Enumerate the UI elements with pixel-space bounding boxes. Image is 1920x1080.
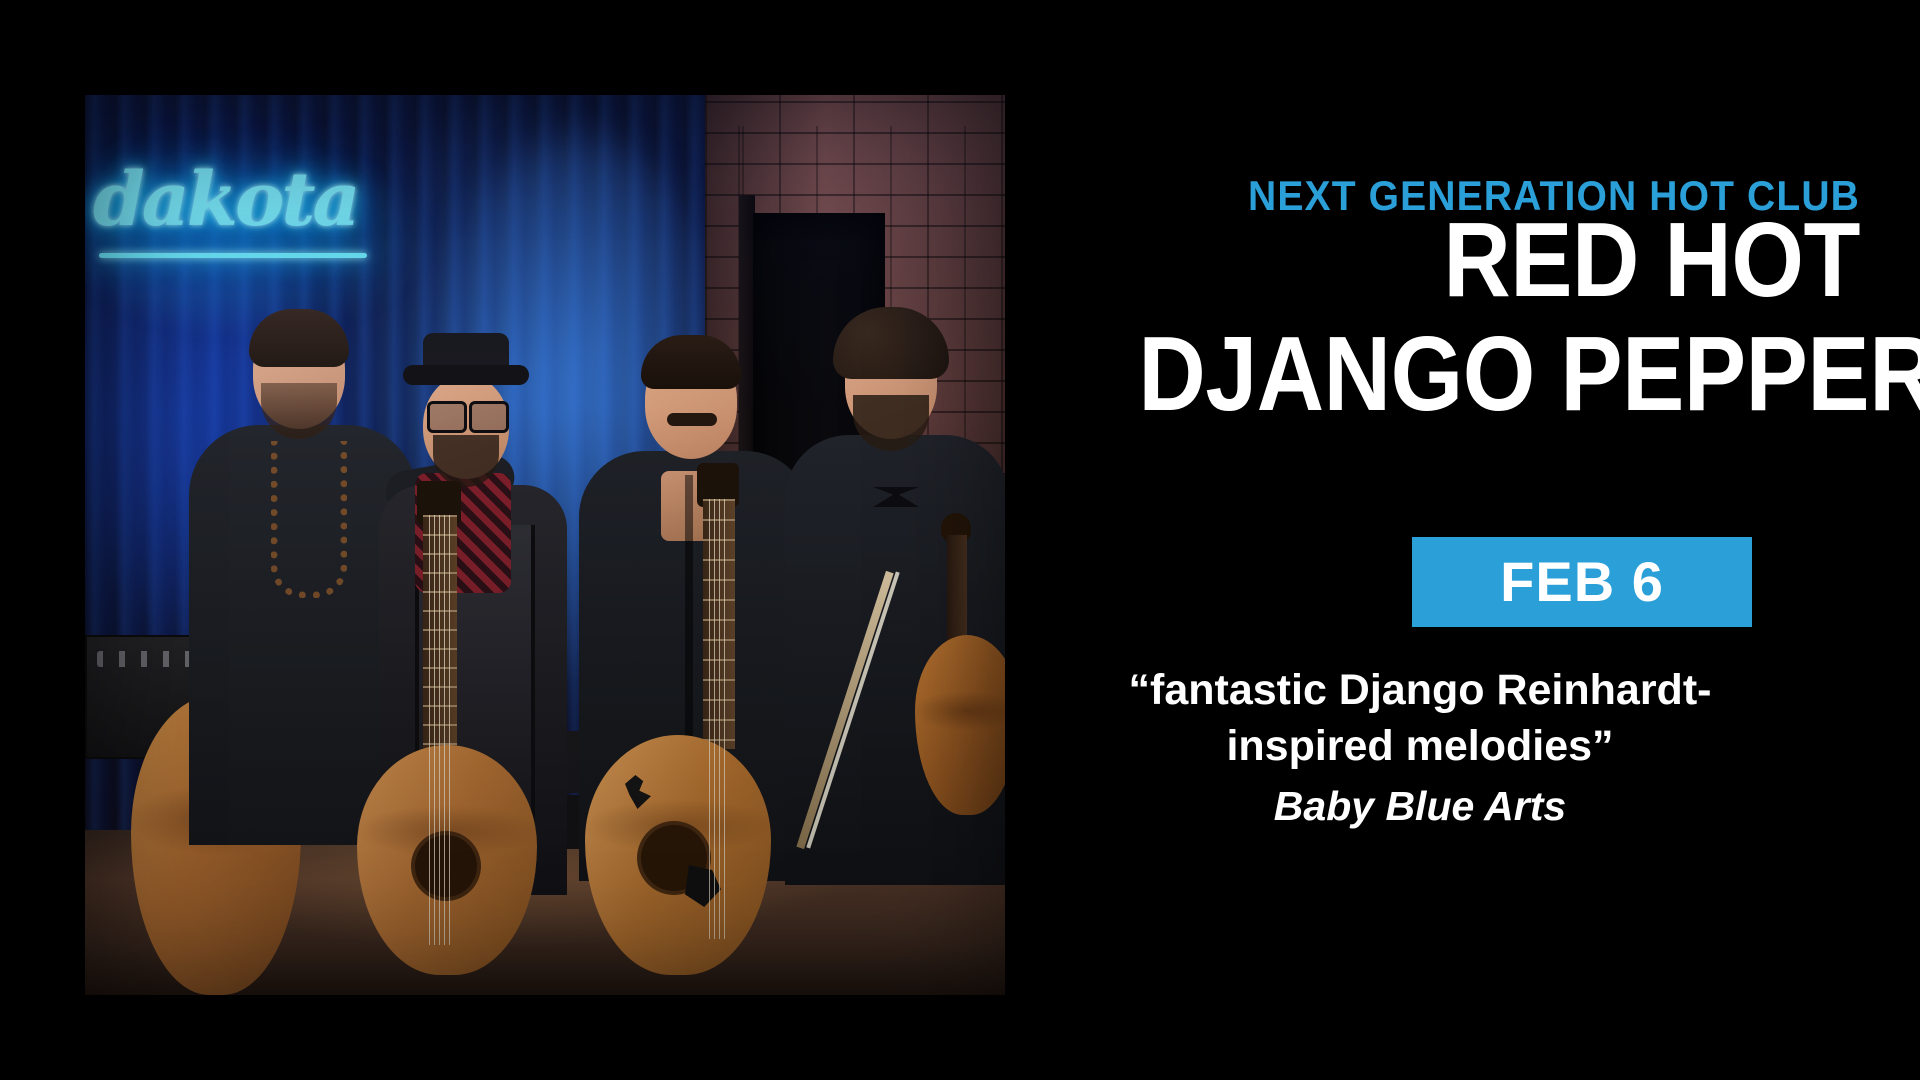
press-quote-attribution: Baby Blue Arts bbox=[1100, 778, 1740, 834]
press-quote: “fantastic Django Reinhardt- inspired me… bbox=[1100, 662, 1740, 834]
press-quote-line-2: inspired melodies” bbox=[1100, 718, 1740, 774]
band-photo: dakota bbox=[85, 95, 1005, 995]
date-badge[interactable]: FEB 6 bbox=[1412, 537, 1752, 627]
promo-text-column: NEXT GENERATION HOT CLUB RED HOT DJANGO … bbox=[1040, 0, 1860, 1080]
date-badge-label: FEB 6 bbox=[1412, 537, 1752, 627]
event-title-line-2: DJANGO PEPPERS bbox=[1138, 320, 1860, 428]
concert-promo-poster: dakota bbox=[0, 0, 1920, 1080]
event-title: RED HOT DJANGO PEPPERS bbox=[1138, 206, 1860, 428]
press-quote-line-1: “fantastic Django Reinhardt- bbox=[1100, 662, 1740, 718]
photo-vignette bbox=[85, 95, 1005, 995]
event-title-line-1: RED HOT bbox=[1138, 206, 1860, 314]
